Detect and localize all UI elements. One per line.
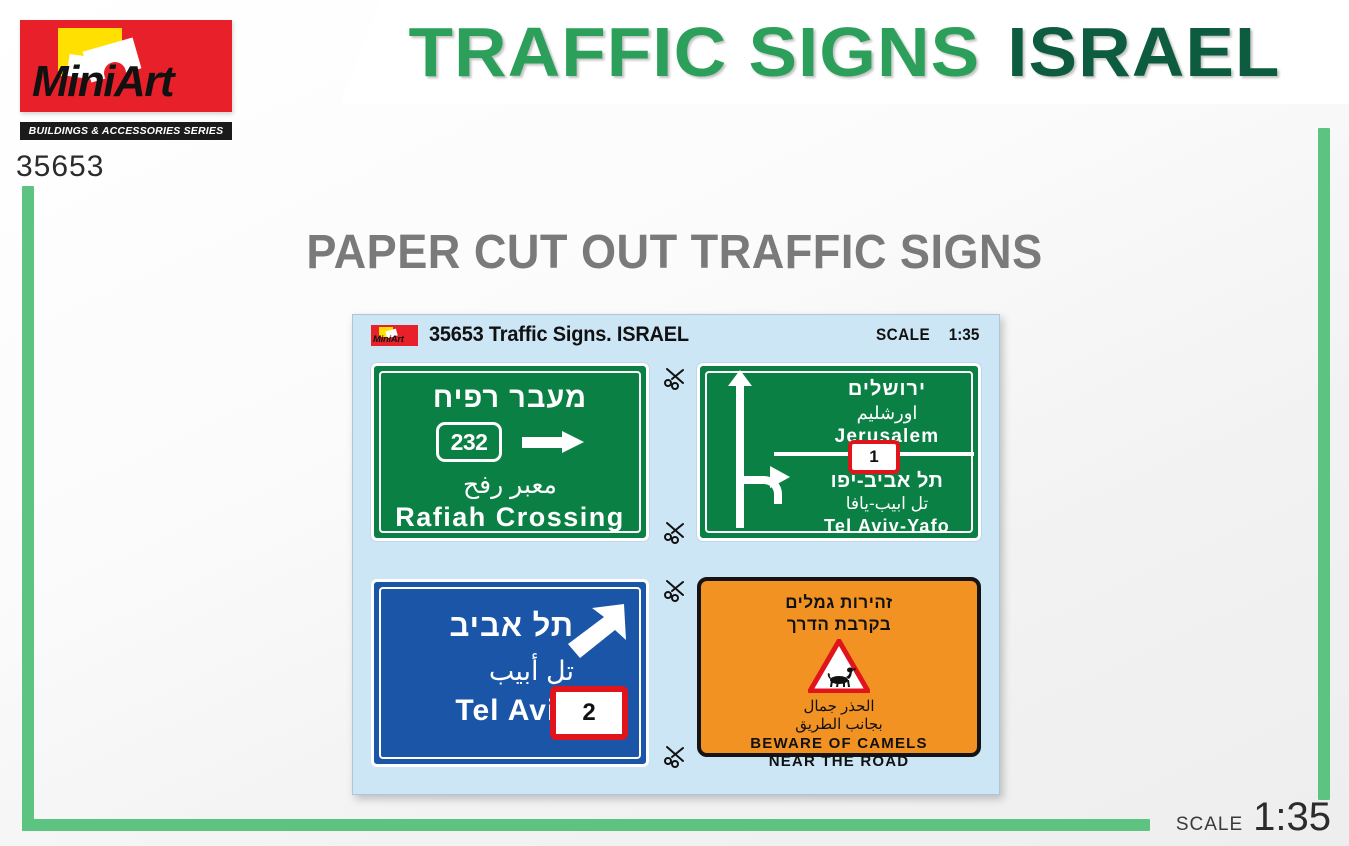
telaviv-yafo-hebrew-text: תל אביב-יפו <box>796 470 978 493</box>
series-bar: BUILDINGS & ACCESSORIES SERIES <box>20 122 232 140</box>
scissors-icon <box>663 519 689 545</box>
telaviv-yafo-arabic-text: تل ابيب-يافا <box>796 494 978 514</box>
jerusalem-text-block: ירושלים اورشليم Jerusalem <box>796 374 978 448</box>
sign-beware-of-camels[interactable]: זהירות גמלים בקרבת הדרך الحذر جمال بجا <box>697 577 981 757</box>
footer-scale-value: 1:35 <box>1253 795 1331 840</box>
camel-warning-triangle-icon <box>808 639 870 693</box>
sign-rafiah-crossing[interactable]: מעבר רפיח 232 معبر رفح Rafiah Crossing <box>371 363 649 541</box>
camels-arabic-line2: بجانب الطريق <box>701 715 977 733</box>
miniart-logo: MiniArt <box>20 20 232 112</box>
rafiah-arabic-text: معبر رفح <box>374 470 646 500</box>
telaviv-english-text: Tel Aviv <box>388 694 574 728</box>
camels-english-line2: NEAR THE ROAD <box>701 753 977 770</box>
page-headline: PAPER CUT OUT TRAFFIC SIGNS <box>40 225 1308 280</box>
scissors-icon <box>663 743 689 769</box>
series-bar-label: BUILDINGS & ACCESSORIES SERIES <box>29 125 224 137</box>
sheet-miniart-logo-icon: MiniArt <box>371 325 418 346</box>
jerusalem-hebrew-text: ירושלים <box>796 378 978 401</box>
green-rule-left <box>22 186 34 831</box>
route-shield-2: 2 <box>550 686 628 740</box>
camels-hebrew-line1: זהירות גמלים <box>701 593 977 613</box>
arrow-branch-right-icon <box>740 462 794 496</box>
header-title: TRAFFIC SIGNS ISRAEL <box>320 0 1349 104</box>
telaviv-hebrew-text: תל אביב <box>388 608 574 644</box>
logo-wordmark: MiniArt <box>32 58 222 106</box>
header-title-israel: ISRAEL <box>1007 12 1280 92</box>
branch-head <box>770 466 790 488</box>
telaviv-yafo-english-text: Tel Aviv-Yafo <box>796 516 978 537</box>
header-banner: TRAFFIC SIGNS ISRAEL <box>340 0 1349 104</box>
sheet-logo-wordmark: MiniArt <box>373 334 417 345</box>
sign-jerusalem-telaviv[interactable]: ירושלים اورشليم Jerusalem 1 תל אביב-יפו … <box>697 363 981 541</box>
footer-scale: SCALE 1:35 <box>1176 795 1331 840</box>
sign-tel-aviv[interactable]: תל אביב تل أبيب Tel Aviv 2 <box>371 579 649 767</box>
green-rule-right <box>1318 128 1330 800</box>
route-shield-1: 1 <box>848 440 900 474</box>
arrow-up-shaft-icon <box>736 380 744 528</box>
camels-hebrew-line2: בקרבת הדרך <box>701 615 977 635</box>
route-shield-232: 232 <box>436 422 502 462</box>
scissors-icon <box>663 577 689 603</box>
arrow-head <box>562 431 584 453</box>
camels-english-line1: BEWARE OF CAMELS <box>701 735 977 752</box>
green-rule-bottom <box>22 819 1150 831</box>
header-title-traffic-signs: TRAFFIC SIGNS <box>409 12 981 92</box>
arrow-up-head-icon <box>728 370 752 386</box>
scissors-icon <box>663 365 689 391</box>
camels-arabic-line1: الحذر جمال <box>701 697 977 715</box>
arrow-right-icon <box>522 431 584 453</box>
sheet-scale: SCALE 1:35 <box>873 325 981 345</box>
sheet-header: MiniArt 35653 Traffic Signs. ISRAEL SCAL… <box>353 315 999 355</box>
signs-sheet: MiniArt 35653 Traffic Signs. ISRAEL SCAL… <box>352 314 1000 795</box>
rafiah-hebrew-text: מעבר רפיח <box>374 382 646 415</box>
rafiah-route-row: 232 <box>374 422 646 462</box>
sheet-title: 35653 Traffic Signs. ISRAEL <box>429 323 689 347</box>
jerusalem-arabic-text: اورشليم <box>796 403 978 424</box>
sheet-scale-value: 1:35 <box>949 325 980 345</box>
telaviv-arabic-text: تل أبيب <box>388 656 574 687</box>
sheet-scale-label: SCALE <box>876 325 930 345</box>
footer-scale-label: SCALE <box>1176 814 1243 836</box>
rafiah-english-text: Rafiah Crossing <box>374 502 646 533</box>
kit-number: 35653 <box>16 150 104 184</box>
arrow-shaft <box>522 437 564 448</box>
arrow-diagonal-up-right-icon <box>558 600 632 662</box>
